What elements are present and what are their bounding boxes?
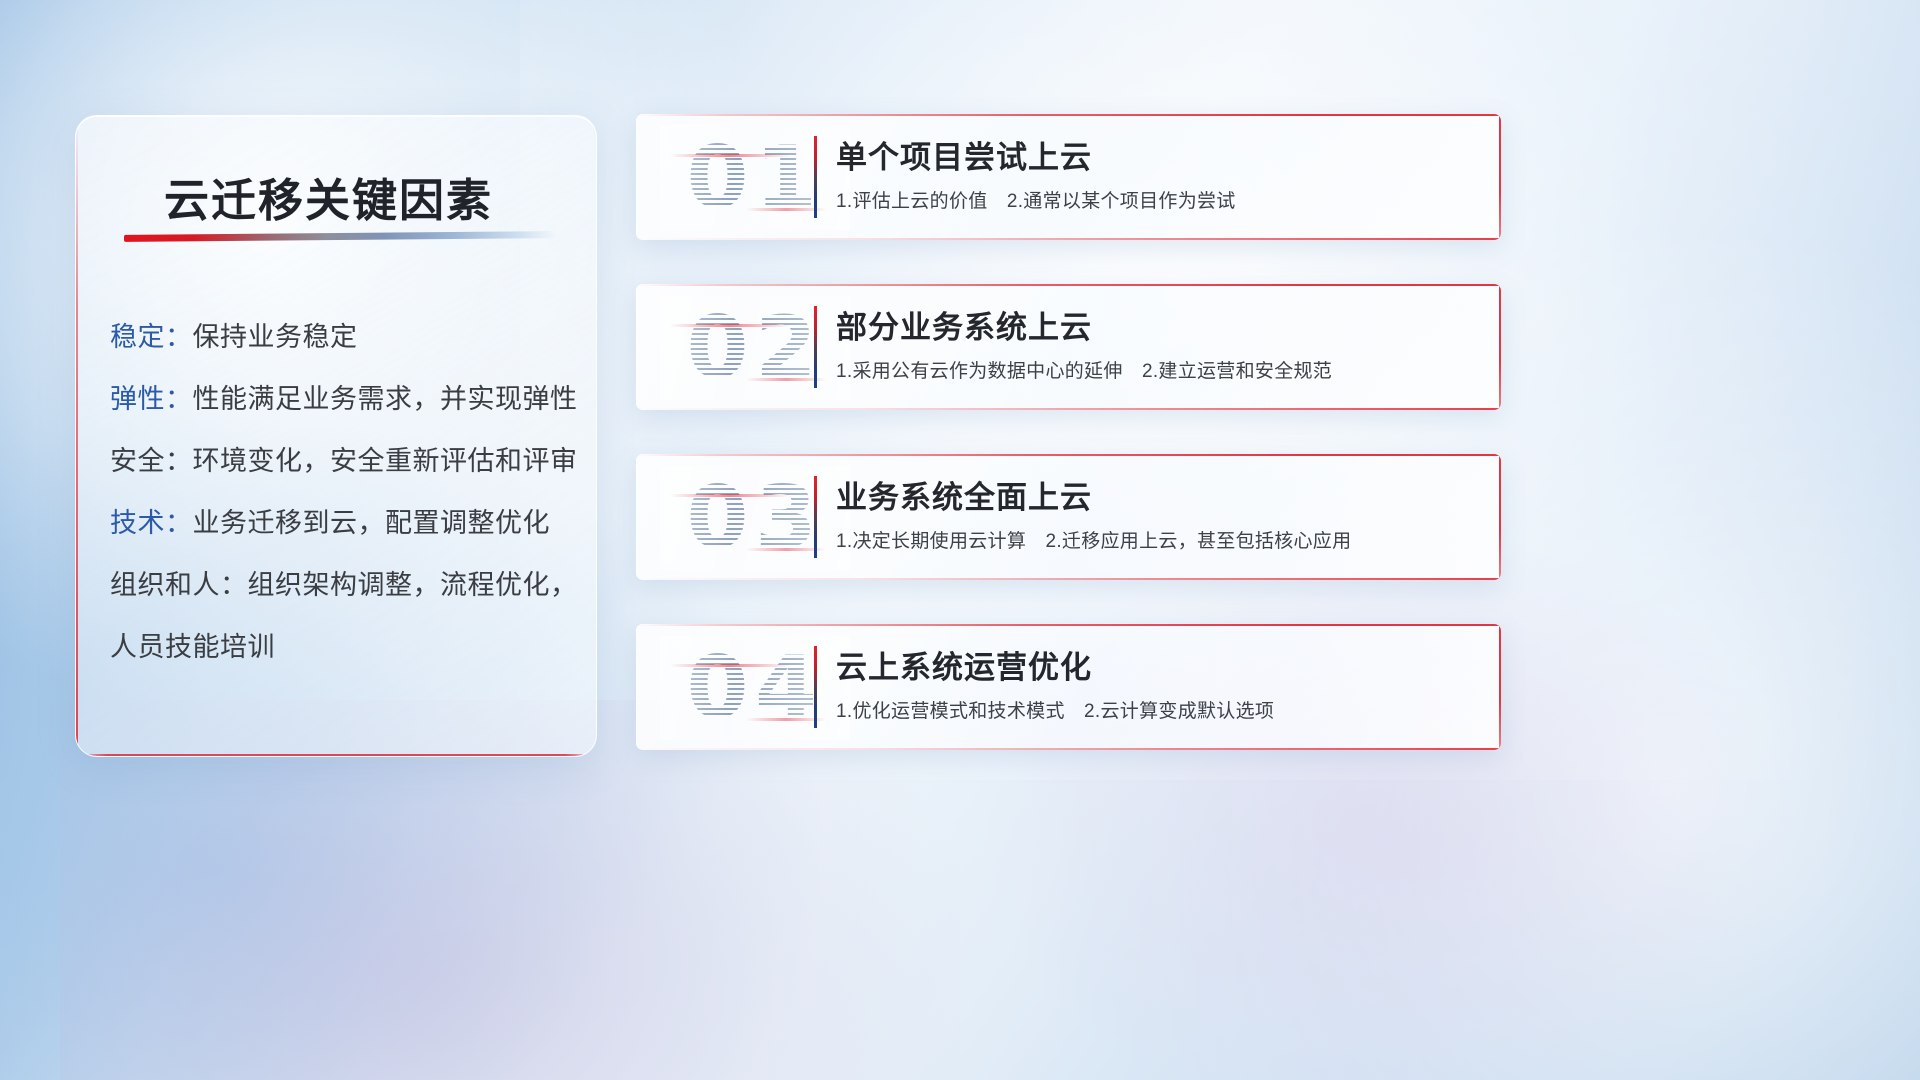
stage-number-text: 02 bbox=[687, 298, 824, 398]
card-divider-bar bbox=[814, 306, 817, 388]
card-divider-bar bbox=[814, 476, 817, 558]
stage-number-red-streak bbox=[670, 664, 790, 667]
slide-stage: 云迁移关键因素 稳定：保持业务稳定 弹性：性能满足业务需求，并实现弹性 安全：环… bbox=[0, 0, 1920, 1080]
title-underline-gradient bbox=[124, 231, 556, 242]
list-item: 安全：环境变化，安全重新评估和评审 bbox=[110, 430, 572, 492]
stage-number-text: 01 bbox=[687, 128, 824, 228]
list-item: 弹性：性能满足业务需求，并实现弹性 bbox=[110, 368, 572, 430]
list-item: 人员技能培训 bbox=[110, 616, 572, 678]
stage-number-ghost: 01 bbox=[660, 126, 850, 230]
card-top-accent bbox=[636, 454, 1501, 456]
card-subtitle: 1.优化运营模式和技术模式 2.云计算变成默认选项 bbox=[836, 696, 1274, 723]
stage-card-list: 01 单个项目尝试上云 1.评估上云的价值 2.通常以某个项目作为尝试 02 部… bbox=[636, 114, 1501, 794]
page-title: 云迁移关键因素 bbox=[164, 164, 493, 229]
card-top-accent bbox=[636, 624, 1501, 626]
card-left-highlight bbox=[636, 454, 637, 580]
card-bottom-accent bbox=[636, 748, 1501, 750]
card-divider-bar bbox=[814, 136, 817, 218]
stage-number-ghost: 02 bbox=[660, 296, 850, 400]
card-bottom-accent bbox=[636, 578, 1501, 580]
card-title: 单个项目尝试上云 bbox=[836, 132, 1092, 177]
stage-number-red-streak bbox=[670, 154, 790, 157]
list-item: 组织和人：组织架构调整，流程优化， bbox=[110, 554, 572, 616]
stage-number-ghost: 04 bbox=[660, 636, 850, 740]
list-item-text: 业务迁移到云，配置调整优化 bbox=[193, 508, 551, 538]
stage-card[interactable]: 03 业务系统全面上云 1.决定长期使用云计算 2.迁移应用上云，甚至包括核心应… bbox=[636, 454, 1501, 580]
card-right-accent bbox=[1499, 624, 1501, 750]
stage-card[interactable]: 02 部分业务系统上云 1.采用公有云作为数据中心的延伸 2.建立运营和安全规范 bbox=[636, 284, 1501, 410]
card-left-highlight bbox=[636, 284, 637, 410]
stage-number-red-streak bbox=[670, 324, 790, 327]
stage-card[interactable]: 01 单个项目尝试上云 1.评估上云的价值 2.通常以某个项目作为尝试 bbox=[636, 114, 1501, 240]
list-item-label: 技术： bbox=[110, 508, 193, 538]
stage-number-ghost: 03 bbox=[660, 466, 850, 570]
list-item-label: 弹性： bbox=[110, 384, 193, 414]
list-item-text: 环境变化，安全重新评估和评审 bbox=[193, 446, 578, 476]
key-factors-list: 稳定：保持业务稳定 弹性：性能满足业务需求，并实现弹性 安全：环境变化，安全重新… bbox=[110, 306, 572, 678]
stage-number-text: 04 bbox=[687, 638, 824, 738]
list-item-label: 组织和人： bbox=[110, 570, 248, 600]
stage-number-text: 03 bbox=[687, 468, 824, 568]
card-left-highlight bbox=[636, 114, 637, 240]
list-item: 稳定：保持业务稳定 bbox=[110, 306, 572, 368]
card-right-accent bbox=[1499, 284, 1501, 410]
card-subtitle: 1.采用公有云作为数据中心的延伸 2.建立运营和安全规范 bbox=[836, 356, 1332, 383]
list-item-text: 性能满足业务需求，并实现弹性 bbox=[193, 384, 578, 414]
stage-card[interactable]: 04 云上系统运营优化 1.优化运营模式和技术模式 2.云计算变成默认选项 bbox=[636, 624, 1501, 750]
card-left-highlight bbox=[636, 624, 637, 750]
key-factors-panel: 云迁移关键因素 稳定：保持业务稳定 弹性：性能满足业务需求，并实现弹性 安全：环… bbox=[75, 115, 597, 757]
card-title: 业务系统全面上云 bbox=[836, 472, 1092, 517]
card-bottom-accent bbox=[636, 238, 1501, 240]
card-bottom-accent bbox=[636, 408, 1501, 410]
list-item-text: 人员技能培训 bbox=[110, 632, 275, 662]
list-item-text: 组织架构调整，流程优化， bbox=[248, 570, 578, 600]
card-subtitle: 1.决定长期使用云计算 2.迁移应用上云，甚至包括核心应用 bbox=[836, 526, 1351, 553]
card-divider-bar bbox=[814, 646, 817, 728]
list-item-label: 稳定： bbox=[110, 322, 193, 352]
list-item: 技术：业务迁移到云，配置调整优化 bbox=[110, 492, 572, 554]
card-subtitle: 1.评估上云的价值 2.通常以某个项目作为尝试 bbox=[836, 186, 1236, 213]
card-title: 部分业务系统上云 bbox=[836, 302, 1092, 347]
card-top-accent bbox=[636, 284, 1501, 286]
card-right-accent bbox=[1499, 454, 1501, 580]
list-item-text: 保持业务稳定 bbox=[193, 322, 358, 352]
card-top-accent bbox=[636, 114, 1501, 116]
stage-number-red-streak bbox=[670, 494, 790, 497]
card-title: 云上系统运营优化 bbox=[836, 642, 1092, 687]
card-right-accent bbox=[1499, 114, 1501, 240]
list-item-label: 安全： bbox=[110, 446, 193, 476]
